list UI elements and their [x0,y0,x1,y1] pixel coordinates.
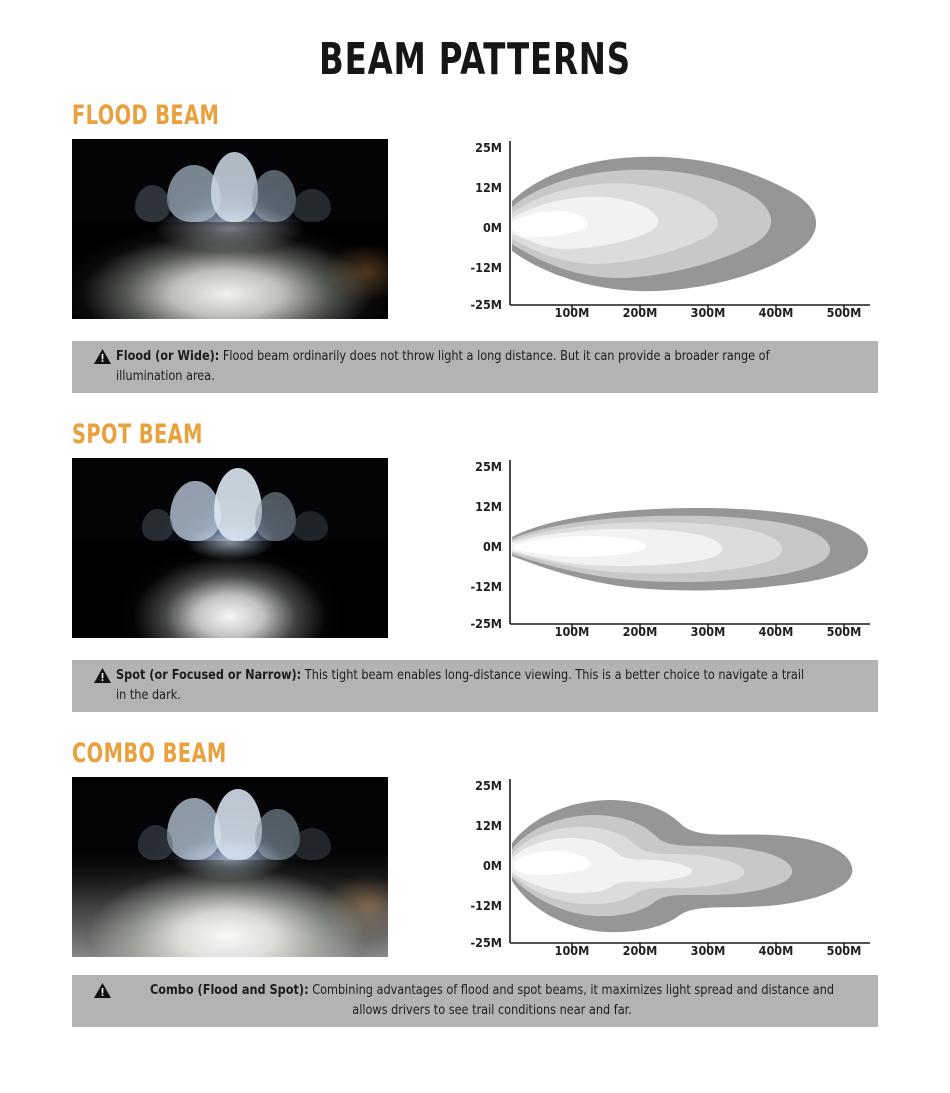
light-pool [72,777,388,957]
x-tick-300m: 300M [691,305,726,319]
y-axis-labels: 25M 12M 0M -12M -25M [470,778,502,950]
x-tick-400m: 400M [759,624,794,638]
beam-layers-spot [512,508,868,590]
light-pool [72,458,388,638]
beam-layers-combo [512,800,852,932]
y-axis-labels: 25M 12M 0M -12M -25M [470,459,502,631]
x-tick-300m: 300M [691,624,726,638]
caption-flood: Flood (or Wide): Flood beam ordinarily d… [72,341,878,393]
y-tick-12: 12M [475,180,502,195]
caption-text-flood: Flood (or Wide): Flood beam ordinarily d… [116,347,815,386]
caption-label-flood: Flood (or Wide): [116,348,219,364]
beam-layers-flood [512,157,816,291]
section-combo: COMBO BEAM 25M 12M 0M [0,738,950,1027]
y-tick-25: 25M [475,459,502,474]
y-tick-25: 25M [475,778,502,793]
spot-beam-chart: 25M 12M 0M -12M -25M [460,458,880,638]
y-tick-0: 0M [483,220,502,235]
warning-triangle-icon [94,349,116,368]
y-tick-neg12: -12M [470,898,502,913]
spot-beam-photo [72,458,388,638]
x-tick-100m: 100M [555,305,590,319]
y-axis-labels: 25M 12M 0M -12M -25M [470,140,502,312]
x-axis-ticks-flood: 100M 200M 300M 400M 500M [555,305,862,319]
section-spot: SPOT BEAM 25M 12M 0M [0,419,950,712]
beam-patterns-page: BEAM PATTERNS FLOOD BEAM 25M [0,0,950,1093]
y-tick-12: 12M [475,499,502,514]
x-tick-100m: 100M [555,624,590,638]
y-tick-neg25: -25M [470,616,502,631]
caption-label-spot: Spot (or Focused or Narrow): [116,667,301,683]
section-heading-combo: COMBO BEAM [72,738,774,769]
light-pool [72,139,388,319]
caption-combo: Combo (Flood and Spot): Combining advant… [72,975,878,1027]
y-tick-neg12: -12M [470,579,502,594]
y-tick-neg25: -25M [470,297,502,312]
page-title: BEAM PATTERNS [86,0,865,82]
warning-triangle-icon [94,668,116,687]
caption-label-combo: Combo (Flood and Spot): [150,982,309,998]
caption-text-combo: Combo (Flood and Spot): Combining advant… [142,981,841,1020]
x-tick-500m: 500M [827,305,862,319]
x-tick-500m: 500M [827,943,862,957]
y-tick-0: 0M [483,539,502,554]
section-heading-spot: SPOT BEAM [72,419,774,450]
x-tick-300m: 300M [691,943,726,957]
section-heading-flood: FLOOD BEAM [72,100,774,131]
x-axis-ticks-combo: 100M 200M 300M 400M 500M [555,943,862,957]
caption-text-spot: Spot (or Focused or Narrow): This tight … [116,666,815,705]
y-tick-25: 25M [475,140,502,155]
caption-body-combo: Combining advantages of flood and spot b… [312,982,834,1018]
y-tick-neg25: -25M [470,935,502,950]
warning-triangle-icon [94,983,116,1002]
x-tick-400m: 400M [759,943,794,957]
x-tick-200m: 200M [623,624,658,638]
y-tick-12: 12M [475,818,502,833]
x-tick-400m: 400M [759,305,794,319]
x-axis-ticks-spot: 100M 200M 300M 400M 500M [555,624,862,638]
caption-spot: Spot (or Focused or Narrow): This tight … [72,660,878,712]
x-tick-500m: 500M [827,624,862,638]
y-tick-0: 0M [483,858,502,873]
flood-beam-chart: 25M 12M 0M -12M -25M [460,139,880,319]
flood-beam-photo [72,139,388,319]
x-tick-100m: 100M [555,943,590,957]
x-tick-200m: 200M [623,943,658,957]
y-tick-neg12: -12M [470,260,502,275]
x-tick-200m: 200M [623,305,658,319]
combo-beam-chart: 25M 12M 0M -12M -25M [460,777,880,957]
section-flood: FLOOD BEAM 25M 12M 0M [0,100,950,393]
combo-beam-photo [72,777,388,957]
